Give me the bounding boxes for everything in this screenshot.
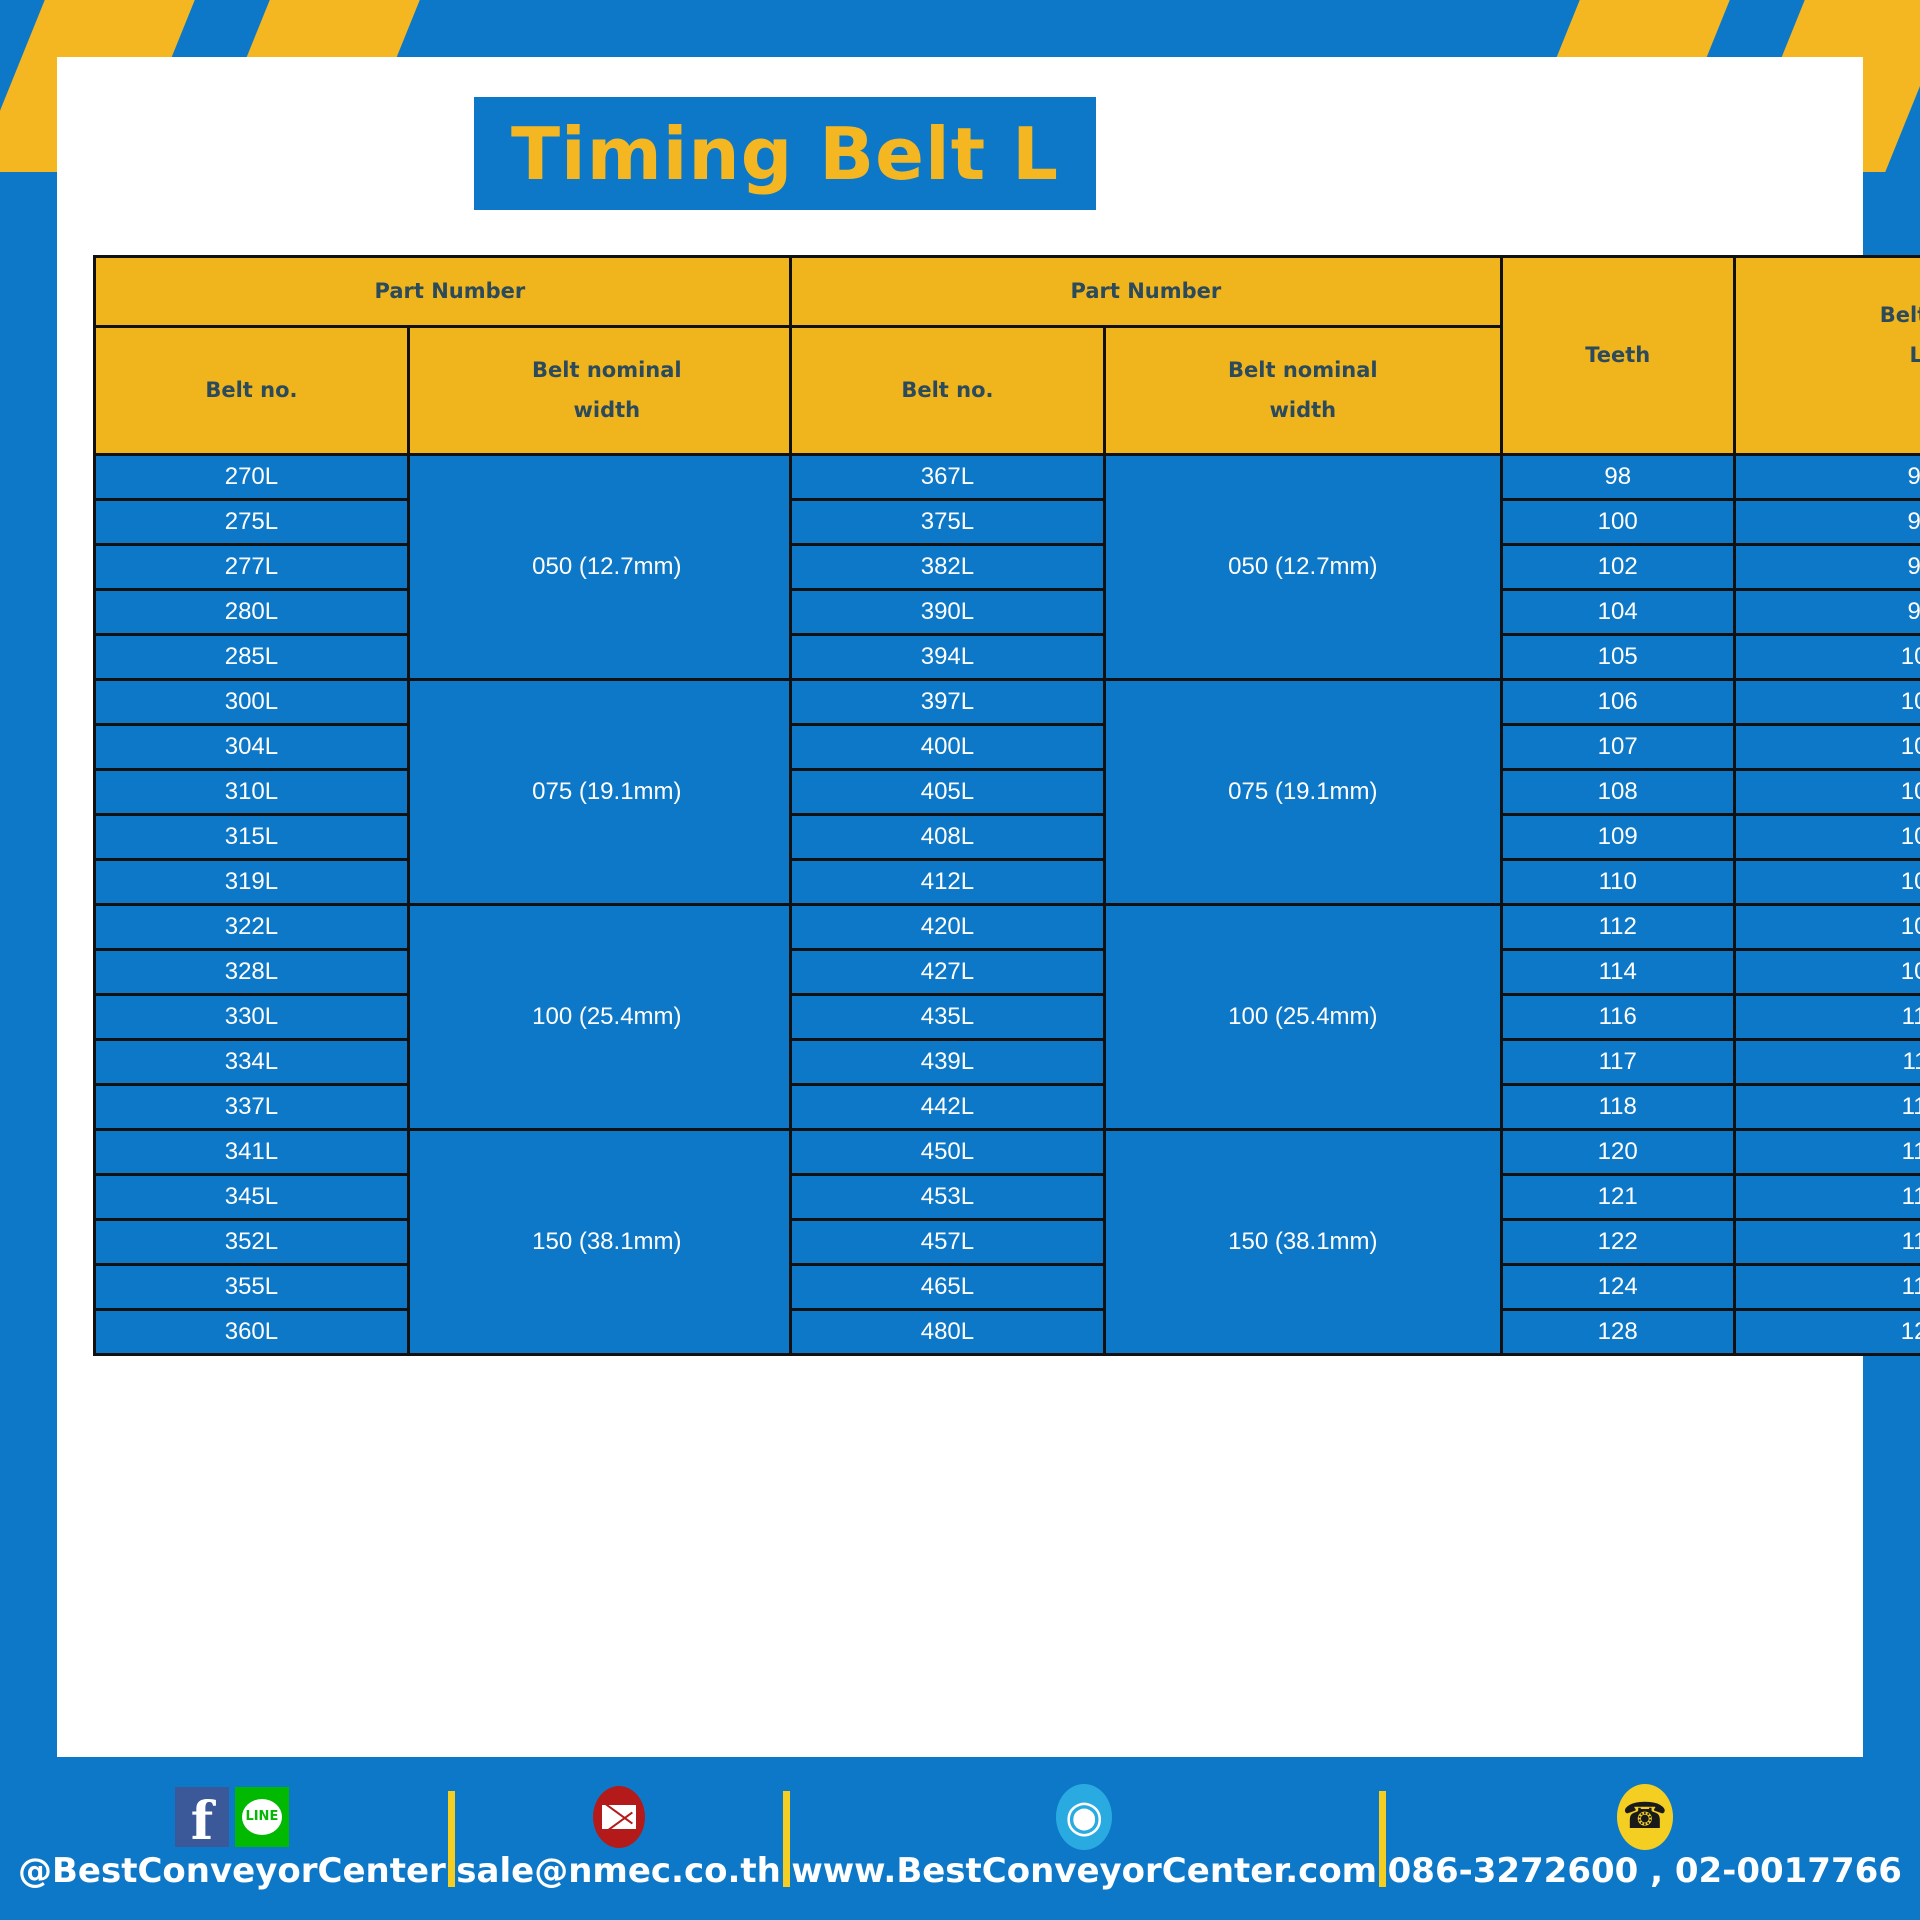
header-belt-circum: Belt circum. Length (mm) bbox=[1734, 257, 1920, 455]
belt-table-right: Part Number Teeth Belt circum. Length (m… bbox=[789, 255, 1920, 1356]
header-belt-no: Belt no. bbox=[791, 327, 1105, 455]
facebook-icon[interactable]: f bbox=[175, 1787, 229, 1847]
cell-belt-no: 322L bbox=[95, 905, 409, 950]
cell-belt-no: 394L bbox=[791, 635, 1105, 680]
table-row: 450L150 (38.1mm)1201143.000 bbox=[791, 1130, 1920, 1175]
cell-teeth: 105 bbox=[1501, 635, 1734, 680]
website-label: www.BestConveyorCenter.com bbox=[791, 1851, 1377, 1891]
cell-belt-no: 408L bbox=[791, 815, 1105, 860]
email-label: sale@nmec.co.th bbox=[456, 1851, 781, 1891]
website-icons: ◉ bbox=[1056, 1787, 1112, 1847]
cell-belt-no: 427L bbox=[791, 950, 1105, 995]
cell-teeth: 124 bbox=[1501, 1265, 1734, 1310]
header-belt-width-line1: Belt nominal bbox=[412, 351, 802, 391]
header-part-number: Part Number bbox=[791, 257, 1502, 327]
cell-belt-no: 300L bbox=[95, 680, 409, 725]
cell-belt-no: 315L bbox=[95, 815, 409, 860]
header-belt-circum-line1: Belt circum. bbox=[1738, 296, 1920, 336]
cell-teeth: 118 bbox=[1501, 1085, 1734, 1130]
cell-length: 1181.100 bbox=[1734, 1265, 1920, 1310]
cell-belt-no: 334L bbox=[95, 1040, 409, 1085]
cell-belt-nominal-width: 050 (12.7mm) bbox=[1104, 455, 1501, 680]
cell-length: 1123.950 bbox=[1734, 1085, 1920, 1130]
cell-length: 1152.525 bbox=[1734, 1175, 1920, 1220]
cell-belt-nominal-width: 050 (12.7mm) bbox=[408, 455, 805, 680]
cell-belt-no: 285L bbox=[95, 635, 409, 680]
cell-teeth: 110 bbox=[1501, 860, 1734, 905]
header-belt-nominal-width: Belt nominal width bbox=[408, 327, 805, 455]
cell-belt-no: 400L bbox=[791, 725, 1105, 770]
belt-table-right-wrapper: Part Number Teeth Belt circum. Length (m… bbox=[789, 255, 1920, 1356]
cell-teeth: 112 bbox=[1501, 905, 1734, 950]
cell-teeth: 108 bbox=[1501, 770, 1734, 815]
cell-length: 1009.650 bbox=[1734, 680, 1920, 725]
cell-belt-no: 382L bbox=[791, 545, 1105, 590]
cell-belt-no: 352L bbox=[95, 1220, 409, 1265]
cell-belt-no: 397L bbox=[791, 680, 1105, 725]
cell-teeth: 109 bbox=[1501, 815, 1734, 860]
line-icon[interactable]: LINE bbox=[235, 1787, 289, 1847]
cell-belt-nominal-width: 075 (19.1mm) bbox=[1104, 680, 1501, 905]
cell-teeth: 104 bbox=[1501, 590, 1734, 635]
cell-teeth: 116 bbox=[1501, 995, 1734, 1040]
cell-belt-no: 337L bbox=[95, 1085, 409, 1130]
cell-belt-no: 319L bbox=[95, 860, 409, 905]
cell-belt-no: 310L bbox=[95, 770, 409, 815]
social-contact-group[interactable]: f LINE @BestConveyorCenter bbox=[18, 1787, 446, 1891]
cell-belt-no: 341L bbox=[95, 1130, 409, 1175]
cell-belt-nominal-width: 100 (25.4mm) bbox=[408, 905, 805, 1130]
cell-belt-no: 345L bbox=[95, 1175, 409, 1220]
table-row: 397L075 (19.1mm)1061009.650 bbox=[791, 680, 1920, 725]
cell-belt-no: 439L bbox=[791, 1040, 1105, 1085]
cell-teeth: 122 bbox=[1501, 1220, 1734, 1265]
line-bubble-icon: LINE bbox=[242, 1799, 282, 1835]
cell-length: 1047.750 bbox=[1734, 860, 1920, 905]
social-icons: f LINE bbox=[175, 1787, 289, 1847]
cell-belt-no: 412L bbox=[791, 860, 1105, 905]
cell-length: 1019.175 bbox=[1734, 725, 1920, 770]
cell-belt-no: 280L bbox=[95, 590, 409, 635]
cell-length: 1162.050 bbox=[1734, 1220, 1920, 1265]
cell-teeth: 128 bbox=[1501, 1310, 1734, 1355]
cell-belt-no: 328L bbox=[95, 950, 409, 995]
cell-belt-no: 465L bbox=[791, 1265, 1105, 1310]
cell-belt-no: 270L bbox=[95, 455, 409, 500]
header-belt-nominal-width: Belt nominal width bbox=[1104, 327, 1501, 455]
cell-length: 1143.000 bbox=[1734, 1130, 1920, 1175]
header-belt-circum-line2: Length bbox=[1738, 336, 1920, 376]
cell-teeth: 117 bbox=[1501, 1040, 1734, 1085]
cell-belt-nominal-width: 150 (38.1mm) bbox=[408, 1130, 805, 1355]
cell-belt-no: 355L bbox=[95, 1265, 409, 1310]
cell-belt-no: 360L bbox=[95, 1310, 409, 1355]
header-belt-circum-line3: (mm) bbox=[1738, 375, 1920, 415]
cell-belt-no: 442L bbox=[791, 1085, 1105, 1130]
cell-teeth: 120 bbox=[1501, 1130, 1734, 1175]
header-teeth: Teeth bbox=[1501, 257, 1734, 455]
cell-length: 1066.800 bbox=[1734, 905, 1920, 950]
table-row: 420L100 (25.4mm)1121066.800 bbox=[791, 905, 1920, 950]
cell-teeth: 114 bbox=[1501, 950, 1734, 995]
cell-belt-no: 450L bbox=[791, 1130, 1105, 1175]
footer-divider bbox=[1379, 1791, 1386, 1887]
header-part-number: Part Number bbox=[95, 257, 806, 327]
phone-icons: ☎ bbox=[1617, 1787, 1673, 1847]
cell-teeth: 102 bbox=[1501, 545, 1734, 590]
envelope-icon bbox=[602, 1805, 636, 1829]
contact-footer: f LINE @BestConveyorCenter sale@nmec.co.… bbox=[0, 1757, 1920, 1920]
cell-length: 1219.200 bbox=[1734, 1310, 1920, 1355]
cell-length: 1038.225 bbox=[1734, 815, 1920, 860]
cell-belt-no: 435L bbox=[791, 995, 1105, 1040]
cell-length: 952.500 bbox=[1734, 500, 1920, 545]
cell-teeth: 106 bbox=[1501, 680, 1734, 725]
cell-length: 1104.900 bbox=[1734, 995, 1920, 1040]
header-belt-width-line2: width bbox=[1108, 391, 1498, 431]
belt-table-right-body: 367L050 (12.7mm)98933.450375L100952.5003… bbox=[791, 455, 1920, 1355]
header-belt-no: Belt no. bbox=[95, 327, 409, 455]
cell-belt-no: 453L bbox=[791, 1175, 1105, 1220]
cell-belt-no: 480L bbox=[791, 1310, 1105, 1355]
footer-divider bbox=[448, 1791, 455, 1887]
footer-divider bbox=[783, 1791, 790, 1887]
phone-icon[interactable]: ☎ bbox=[1617, 1784, 1673, 1850]
header-belt-width-line2: width bbox=[412, 391, 802, 431]
cell-belt-no: 457L bbox=[791, 1220, 1105, 1265]
cell-length: 990.600 bbox=[1734, 590, 1920, 635]
cell-belt-no: 420L bbox=[791, 905, 1105, 950]
cell-belt-no: 304L bbox=[95, 725, 409, 770]
cell-belt-nominal-width: 150 (38.1mm) bbox=[1104, 1130, 1501, 1355]
website-contact-group[interactable]: ◉ www.BestConveyorCenter.com bbox=[791, 1787, 1377, 1891]
globe-icon[interactable]: ◉ bbox=[1056, 1784, 1112, 1850]
email-icons bbox=[593, 1787, 645, 1847]
cell-belt-no: 330L bbox=[95, 995, 409, 1040]
email-contact-group[interactable]: sale@nmec.co.th bbox=[456, 1787, 781, 1891]
poster-root: Timing Belt L Part Number Teeth Belt cir… bbox=[0, 0, 1920, 1920]
phone-contact-group[interactable]: ☎ 086-3272600 , 02-0017766 bbox=[1388, 1787, 1902, 1891]
cell-teeth: 98 bbox=[1501, 455, 1734, 500]
cell-belt-no: 390L bbox=[791, 590, 1105, 635]
cell-length: 1000.125 bbox=[1734, 635, 1920, 680]
social-handle-label: @BestConveyorCenter bbox=[18, 1851, 446, 1891]
cell-belt-no: 277L bbox=[95, 545, 409, 590]
cell-belt-no: 375L bbox=[791, 500, 1105, 545]
cell-belt-no: 275L bbox=[95, 500, 409, 545]
cell-teeth: 107 bbox=[1501, 725, 1734, 770]
cell-teeth: 121 bbox=[1501, 1175, 1734, 1220]
cell-belt-no: 405L bbox=[791, 770, 1105, 815]
cell-belt-no: 367L bbox=[791, 455, 1105, 500]
cell-length: 1114.425 bbox=[1734, 1040, 1920, 1085]
table-row: 367L050 (12.7mm)98933.450 bbox=[791, 455, 1920, 500]
cell-belt-nominal-width: 075 (19.1mm) bbox=[408, 680, 805, 905]
page-title-banner: Timing Belt L bbox=[474, 97, 1096, 210]
header-belt-width-line1: Belt nominal bbox=[1108, 351, 1498, 391]
cell-teeth: 100 bbox=[1501, 500, 1734, 545]
cell-length: 1085.850 bbox=[1734, 950, 1920, 995]
cell-length: 971.550 bbox=[1734, 545, 1920, 590]
email-icon[interactable] bbox=[593, 1786, 645, 1848]
phone-label: 086-3272600 , 02-0017766 bbox=[1388, 1851, 1902, 1891]
cell-belt-nominal-width: 100 (25.4mm) bbox=[1104, 905, 1501, 1130]
page-title: Timing Belt L bbox=[511, 118, 1059, 190]
cell-length: 1028.700 bbox=[1734, 770, 1920, 815]
cell-length: 933.450 bbox=[1734, 455, 1920, 500]
